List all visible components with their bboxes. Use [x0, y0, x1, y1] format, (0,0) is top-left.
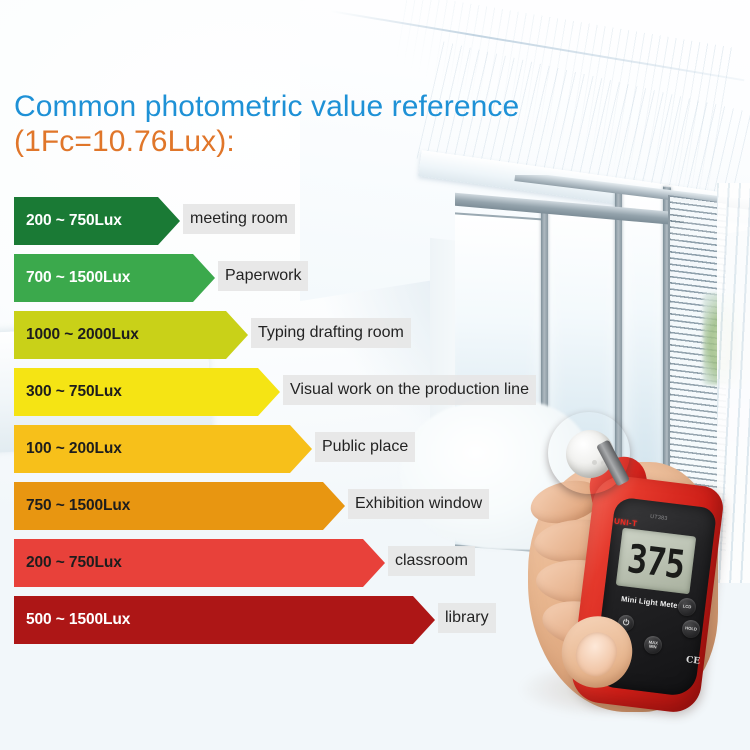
title-line-primary: Common photometric value reference	[14, 90, 714, 124]
lux-reference-row: 1000 ~ 2000LuxTyping drafting room	[0, 311, 750, 368]
lux-range-text: 750 ~ 1500Lux	[14, 497, 130, 515]
photometric-reference-infographic: Common photometric value reference (1Fc=…	[0, 0, 750, 750]
lux-range-text: 200 ~ 750Lux	[14, 554, 122, 572]
title-line-conversion: (1Fc=10.76Lux):	[14, 124, 714, 160]
lcd-screen: 375	[616, 528, 697, 595]
ce-mark-icon: CE	[685, 655, 700, 667]
lux-reference-row: 700 ~ 1500LuxPaperwork	[0, 254, 750, 311]
application-label: Visual work on the production line	[283, 375, 536, 405]
lux-range-text: 1000 ~ 2000Lux	[14, 326, 139, 344]
application-label: Paperwork	[218, 261, 308, 291]
lux-range-arrow: 700 ~ 1500Lux	[14, 254, 215, 302]
lux-range-text: 500 ~ 1500Lux	[14, 611, 130, 629]
lux-range-text: 700 ~ 1500Lux	[14, 269, 130, 287]
application-label: Exhibition window	[348, 489, 489, 519]
sensor-highlight	[592, 460, 597, 465]
lux-range-arrow: 750 ~ 1500Lux	[14, 482, 345, 530]
lux-range-arrow: 100 ~ 200Lux	[14, 425, 312, 473]
application-label: Typing drafting room	[251, 318, 411, 348]
lux-range-arrow: 500 ~ 1500Lux	[14, 596, 435, 644]
lux-reference-row: 300 ~ 750LuxVisual work on the productio…	[0, 368, 750, 425]
lux-range-text: 100 ~ 200Lux	[14, 440, 122, 458]
lux-range-text: 300 ~ 750Lux	[14, 383, 122, 401]
application-label: classroom	[388, 546, 475, 576]
lux-reference-row: 200 ~ 750Luxmeeting room	[0, 197, 750, 254]
page-title: Common photometric value reference (1Fc=…	[14, 90, 714, 160]
application-label: meeting room	[183, 204, 295, 234]
application-label: library	[438, 603, 496, 633]
lux-range-text: 200 ~ 750Lux	[14, 212, 122, 230]
application-label: Public place	[315, 432, 415, 462]
lux-range-arrow: 200 ~ 750Lux	[14, 197, 180, 245]
lux-range-arrow: 200 ~ 750Lux	[14, 539, 385, 587]
light-meter-device: UNI-T UT383 375 Mini Light Meters ⏻ LCD …	[520, 420, 750, 720]
lcd-reading: 375	[625, 535, 687, 588]
lux-range-arrow: 1000 ~ 2000Lux	[14, 311, 248, 359]
lux-range-arrow: 300 ~ 750Lux	[14, 368, 280, 416]
